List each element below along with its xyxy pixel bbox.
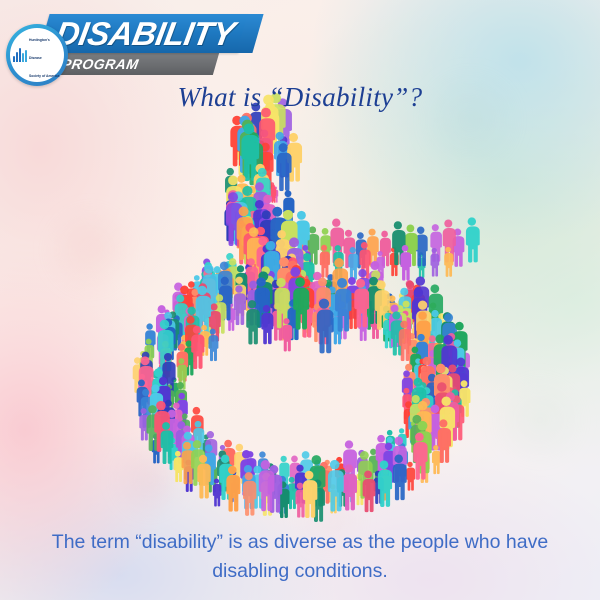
banner-title-text: DISABILITY <box>53 16 249 51</box>
banner-subtitle-text: PROGRAM <box>60 54 214 74</box>
hdsa-logo-inner: Huntington's Disease Society of America <box>10 28 64 82</box>
hdsa-logo-wordmark: Huntington's Disease Society of America <box>29 28 61 82</box>
bar-chart-icon <box>13 48 27 62</box>
caption-text: The term “disability” is as diverse as t… <box>50 528 550 586</box>
hdsa-logo-line2: Society of America <box>29 74 59 78</box>
hdsa-logo[interactable]: Huntington's Disease Society of America <box>6 24 68 86</box>
hdsa-logo-line1: Huntington's Disease <box>29 38 50 60</box>
page-title: What is “Disability”? <box>0 82 600 113</box>
poster-canvas: DISABILITY PROGRAM Huntington's Disease … <box>0 0 600 600</box>
